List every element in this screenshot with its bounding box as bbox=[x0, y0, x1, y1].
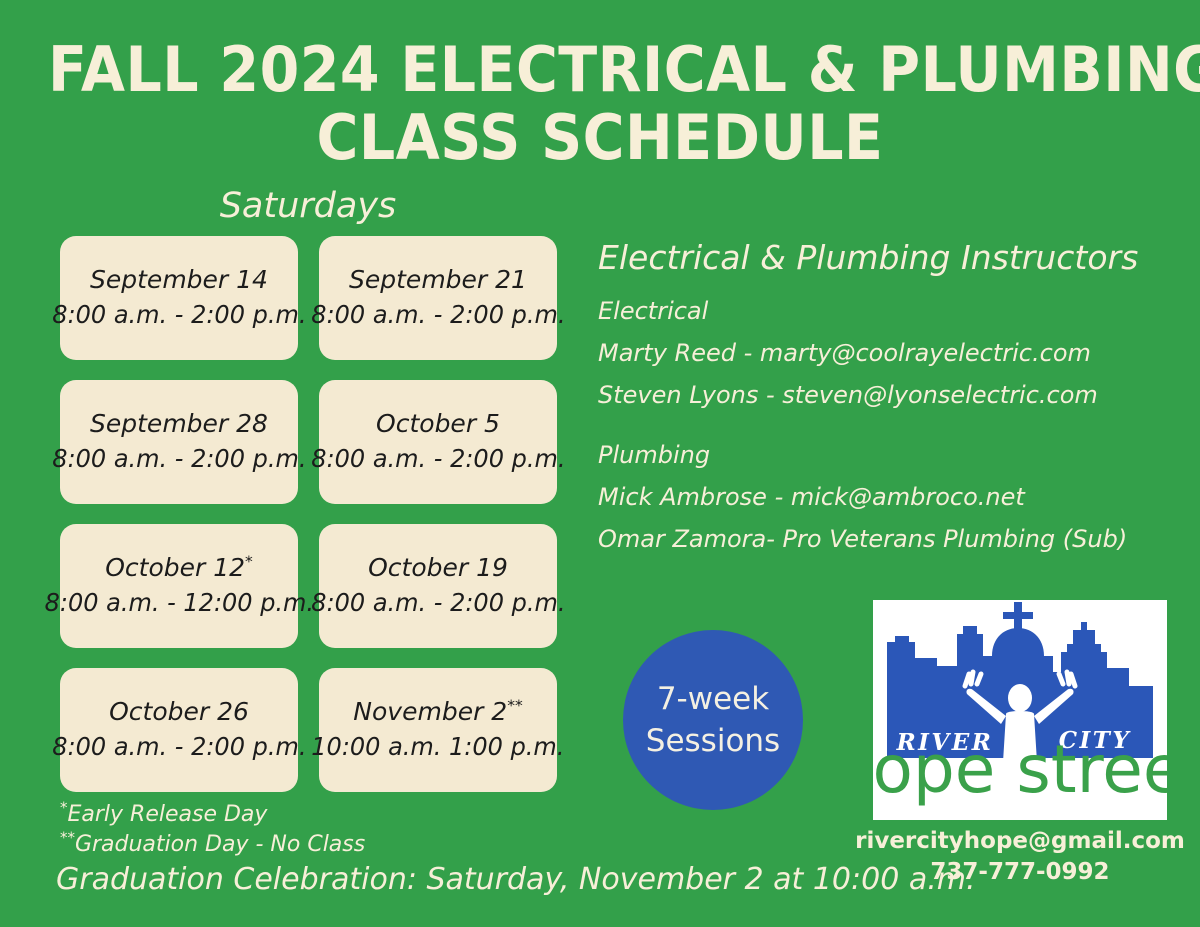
schedule-card-date: September 21 bbox=[349, 263, 527, 297]
schedule-heading: Saturdays bbox=[60, 186, 556, 226]
schedule-card-date: October 26 bbox=[109, 695, 249, 729]
sessions-badge-line-1: 7-week bbox=[657, 678, 769, 720]
schedule-card: September 21 8:00 a.m. - 2:00 p.m. bbox=[319, 236, 557, 360]
schedule-card: October 5 8:00 a.m. - 2:00 p.m. bbox=[319, 380, 557, 504]
instructor-entry: Omar Zamora- Pro Veterans Plumbing (Sub) bbox=[598, 518, 1158, 560]
sessions-badge-line-2: Sessions bbox=[646, 720, 780, 762]
schedule-card-date: October 19 bbox=[368, 551, 508, 585]
instructors-section: Electrical & Plumbing Instructors Electr… bbox=[598, 236, 1158, 560]
instructor-group-label-electrical: Electrical bbox=[598, 290, 1158, 332]
schedule-card-time: 8:00 a.m. - 12:00 p.m. bbox=[44, 585, 313, 621]
schedule-card-date: September 14 bbox=[90, 263, 268, 297]
instructor-entry: Steven Lyons - steven@lyonselectric.com bbox=[598, 374, 1158, 416]
instructors-spacer bbox=[598, 416, 1158, 434]
instructor-entry: Marty Reed - marty@coolrayelectric.com bbox=[598, 332, 1158, 374]
schedule-card-date: October 5 bbox=[376, 407, 500, 441]
schedule-card-time: 8:00 a.m. - 2:00 p.m. bbox=[52, 441, 306, 477]
contact-block: rivercityhope@gmail.com 737-777-0992 bbox=[845, 826, 1195, 888]
footnotes: *Early Release Day**Graduation Day - No … bbox=[60, 800, 600, 860]
schedule-card: September 28 8:00 a.m. - 2:00 p.m. bbox=[60, 380, 298, 504]
instructor-entry: Mick Ambrose - mick@ambroco.net bbox=[598, 476, 1158, 518]
schedule-card-date: October 12* bbox=[105, 551, 253, 585]
schedule-card-time: 8:00 a.m. - 2:00 p.m. bbox=[311, 585, 565, 621]
schedule-card-time: 8:00 a.m. - 2:00 p.m. bbox=[52, 729, 306, 765]
contact-email: rivercityhope@gmail.com bbox=[845, 826, 1195, 856]
schedule-card-date: November 2** bbox=[353, 695, 522, 729]
logo-wordmark: hope street bbox=[873, 731, 1167, 808]
schedule-card-date: September 28 bbox=[90, 407, 268, 441]
schedule-card: October 19 8:00 a.m. - 2:00 p.m. bbox=[319, 524, 557, 648]
graduation-celebration-line: Graduation Celebration: Saturday, Novemb… bbox=[56, 860, 976, 900]
schedule-card-time: 8:00 a.m. - 2:00 p.m. bbox=[311, 297, 565, 333]
schedule-card: September 14 8:00 a.m. - 2:00 p.m. bbox=[60, 236, 298, 360]
schedule-card-time: 10:00 a.m. 1:00 p.m. bbox=[311, 729, 564, 765]
logo-svg: RIVER CITY hope street bbox=[873, 600, 1167, 820]
page-title: Fall 2024 Electrical & Plumbing Class Sc… bbox=[0, 36, 1200, 172]
sessions-badge: 7-week Sessions bbox=[623, 630, 803, 810]
schedule-grid: September 14 8:00 a.m. - 2:00 p.m. Septe… bbox=[60, 236, 557, 792]
title-line-2: Class Schedule bbox=[48, 104, 1152, 172]
footnote-early-release: *Early Release Day bbox=[60, 800, 267, 830]
schedule-card-time: 8:00 a.m. - 2:00 p.m. bbox=[311, 441, 565, 477]
instructor-group-label-plumbing: Plumbing bbox=[598, 434, 1158, 476]
schedule-card: November 2** 10:00 a.m. 1:00 p.m. bbox=[319, 668, 557, 792]
schedule-card-time: 8:00 a.m. - 2:00 p.m. bbox=[52, 297, 306, 333]
schedule-card: October 26 8:00 a.m. - 2:00 p.m. bbox=[60, 668, 298, 792]
footnote-graduation-day: **Graduation Day - No Class bbox=[60, 830, 365, 860]
schedule-card: October 12* 8:00 a.m. - 12:00 p.m. bbox=[60, 524, 298, 648]
poster-canvas: Fall 2024 Electrical & Plumbing Class Sc… bbox=[0, 0, 1200, 927]
title-line-1: Fall 2024 Electrical & Plumbing bbox=[48, 36, 1152, 104]
contact-phone: 737-777-0992 bbox=[845, 856, 1195, 888]
river-city-hope-street-logo: RIVER CITY hope street bbox=[873, 600, 1167, 820]
instructors-title: Electrical & Plumbing Instructors bbox=[598, 236, 1158, 280]
